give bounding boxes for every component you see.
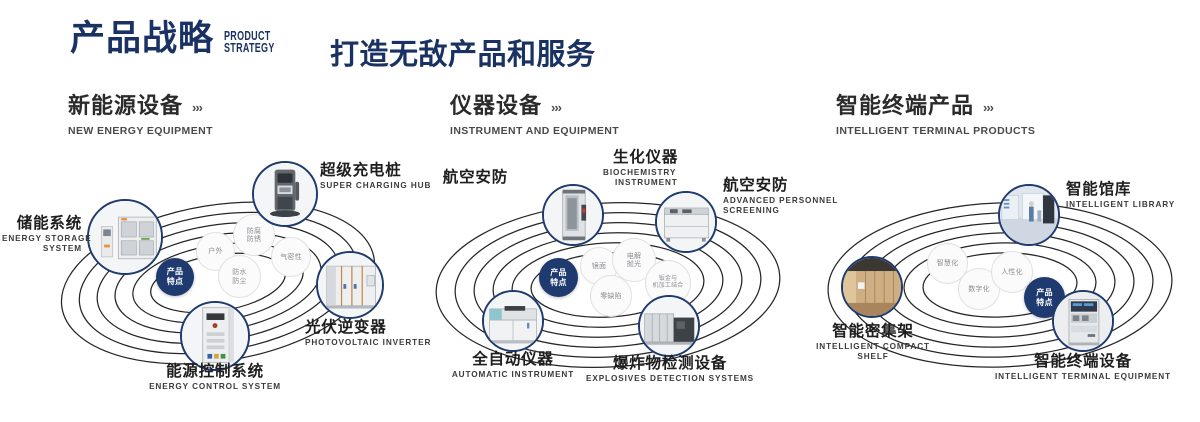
page-title: 产品战略	[70, 22, 214, 57]
caption-energy-storage: 储能系统 ENERGY STORAGESYSTEM	[2, 215, 82, 255]
page-title-english-line2: STRATEGY	[224, 42, 275, 55]
section-title-en: INTELLIGENT TERMINAL PRODUCTS	[836, 125, 1035, 137]
section-title-cn: 新能源设备	[68, 96, 183, 118]
chevron-right-icon: ›››	[192, 100, 202, 115]
core-bubble-product-features: 产品特点	[156, 258, 194, 296]
caption-intelligent-compact-shelf: 智能密集架 INTELLIGENT COMPACTSHELF	[778, 323, 968, 363]
feature-bubble: 气密性	[271, 237, 311, 277]
section-title-en: INSTRUMENT AND EQUIPMENT	[450, 125, 619, 137]
node-intelligent-terminal-equipment[interactable]	[1052, 290, 1114, 352]
caption-aviation-security-left: 航空安防	[398, 169, 508, 186]
page-subtitle: 打造无敌产品和服务	[330, 40, 596, 69]
node-explosives-detection[interactable]	[638, 295, 700, 357]
diagram-intelligent-terminal: 智慧化 数字化 人性化 产品特点	[800, 155, 1200, 405]
section-title-en: NEW ENERGY EQUIPMENT	[68, 125, 213, 137]
diagram-instrument: 镜面 电解抛光 零缺陷 钣金与机加工结合 产品特点	[408, 155, 808, 405]
page-header: 产品战略 PRODUCT STRATEGY	[70, 22, 294, 57]
chevron-right-icon: ›››	[983, 100, 993, 115]
section-title-cn: 仪器设备	[450, 96, 542, 118]
node-energy-storage[interactable]	[87, 199, 163, 275]
diagram-new-energy: 户外 防腐防锈 防水防尘 气密性 产品特点	[20, 155, 420, 405]
caption-intelligent-library: 智能馆库 INTELLIGENT LIBRARY	[1066, 181, 1175, 210]
node-intelligent-compact-shelf[interactable]	[841, 256, 903, 318]
core-bubble-product-features: 产品特点	[539, 258, 578, 297]
page-title-english-line1: PRODUCT	[224, 30, 275, 43]
caption-biochemistry-instrument: 生化仪器 BIOCHEMISTRYINSTRUMENT	[545, 149, 725, 189]
feature-bubble: 零缺陷	[590, 275, 632, 317]
node-intelligent-library[interactable]	[998, 184, 1060, 246]
node-advanced-personnel-screening[interactable]	[655, 191, 717, 253]
section-title-new-energy: 新能源设备››› NEW ENERGY EQUIPMENT	[68, 96, 213, 137]
node-energy-control-system[interactable]	[180, 301, 250, 371]
node-super-charging-hub[interactable]	[252, 161, 318, 227]
caption-energy-control-system: 能源控制系统 ENERGY CONTROL SYSTEM	[105, 363, 325, 392]
chevron-right-icon: ›››	[551, 100, 561, 115]
section-title-intelligent-terminal: 智能终端产品››› INTELLIGENT TERMINAL PRODUCTS	[836, 96, 1035, 137]
feature-bubble: 防水防尘	[218, 255, 261, 298]
caption-explosives-detection: 爆炸物检测设备 EXPLOSIVES DETECTION SYSTEMS	[560, 355, 780, 384]
product-strategy-infographic: 产品战略 PRODUCT STRATEGY 打造无敌产品和服务 新能源设备›››…	[0, 0, 1200, 422]
section-title-instrument: 仪器设备››› INSTRUMENT AND EQUIPMENT	[450, 96, 619, 137]
node-photovoltaic-inverter[interactable]	[316, 251, 384, 319]
caption-intelligent-terminal-equipment: 智能终端设备 INTELLIGENT TERMINAL EQUIPMENT	[983, 353, 1183, 382]
section-title-cn: 智能终端产品	[836, 96, 974, 118]
node-biochemistry-instrument[interactable]	[542, 184, 604, 246]
page-title-english: PRODUCT STRATEGY	[224, 30, 275, 56]
node-automatic-instrument[interactable]	[482, 290, 544, 352]
